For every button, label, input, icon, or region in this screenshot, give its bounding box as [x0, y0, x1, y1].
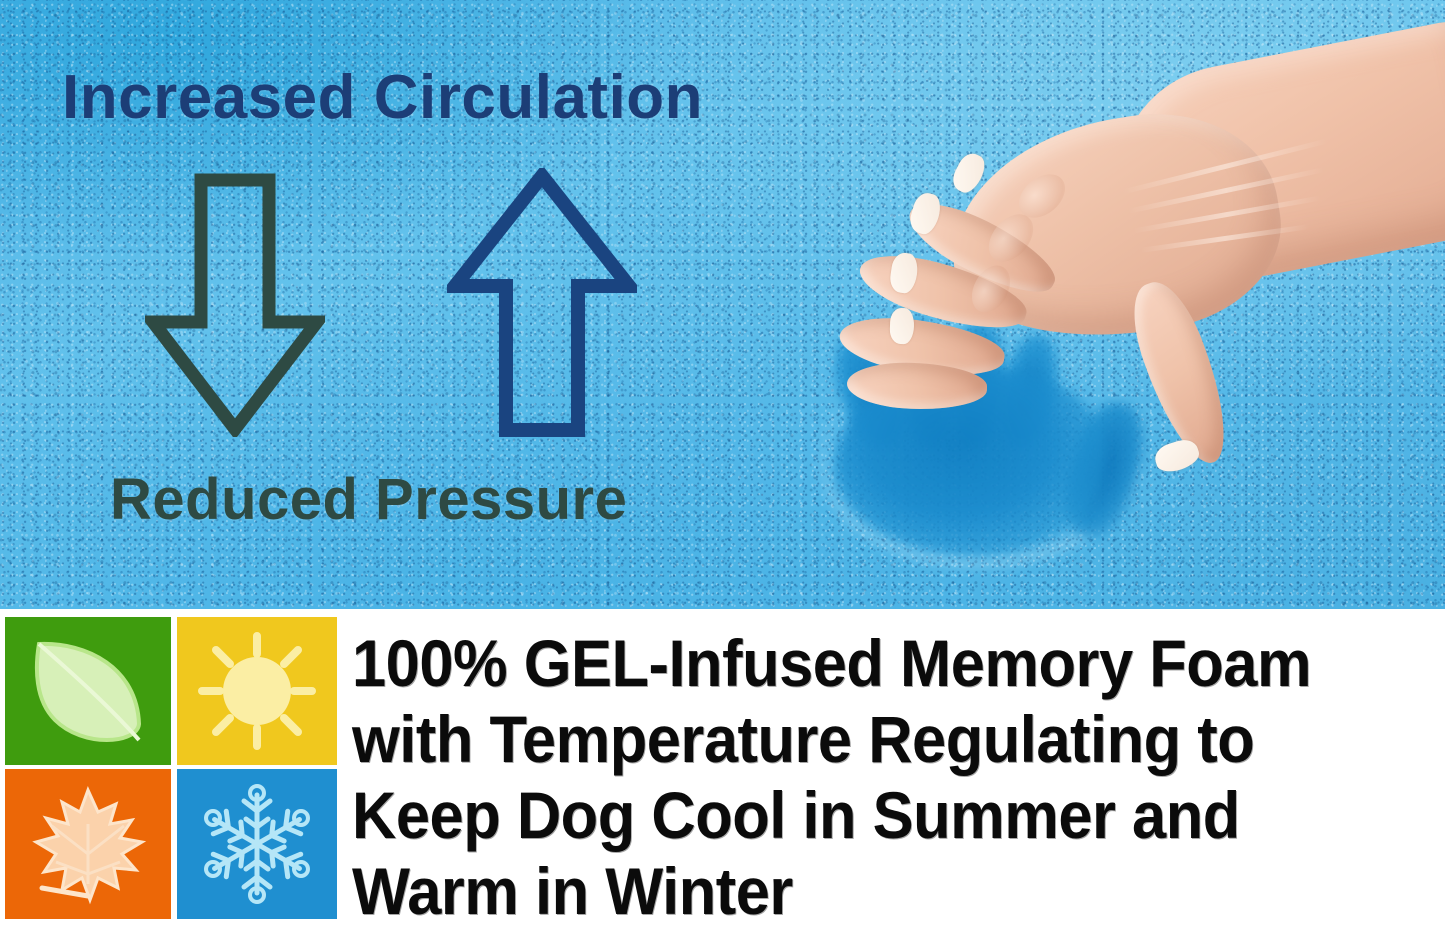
copy-line-3: Keep Dog Cool in Summer and — [352, 777, 1366, 853]
feature-caption-band: 100% GEL-Infused Memory Foam with Temper… — [0, 609, 1445, 927]
season-icon-grid — [5, 617, 335, 923]
product-feature-graphic: Increased Circulation Reduced Pressure — [0, 0, 1445, 927]
up-arrow-icon — [447, 168, 637, 438]
reduced-pressure-label: Reduced Pressure — [110, 466, 627, 533]
fingernail-pinky — [889, 308, 914, 345]
tile-spring — [5, 617, 171, 765]
tile-summer — [177, 617, 337, 765]
tile-autumn — [5, 769, 171, 919]
copy-line-1: 100% GEL-Infused Memory Foam — [352, 625, 1366, 701]
leaf-icon — [25, 628, 151, 754]
feature-copy: 100% GEL-Infused Memory Foam with Temper… — [352, 625, 1442, 927]
tile-winter — [177, 769, 337, 919]
down-arrow-icon — [145, 172, 325, 437]
sun-icon — [194, 628, 320, 754]
snowflake-icon — [194, 781, 320, 907]
increased-circulation-label: Increased Circulation — [62, 62, 703, 133]
memory-foam-photo: Increased Circulation Reduced Pressure — [0, 0, 1445, 609]
maple-leaf-icon — [24, 780, 152, 908]
hand — [820, 60, 1445, 490]
copy-line-2: with Temperature Regulating to — [352, 701, 1366, 777]
copy-line-4: Warm in Winter — [352, 853, 1366, 927]
